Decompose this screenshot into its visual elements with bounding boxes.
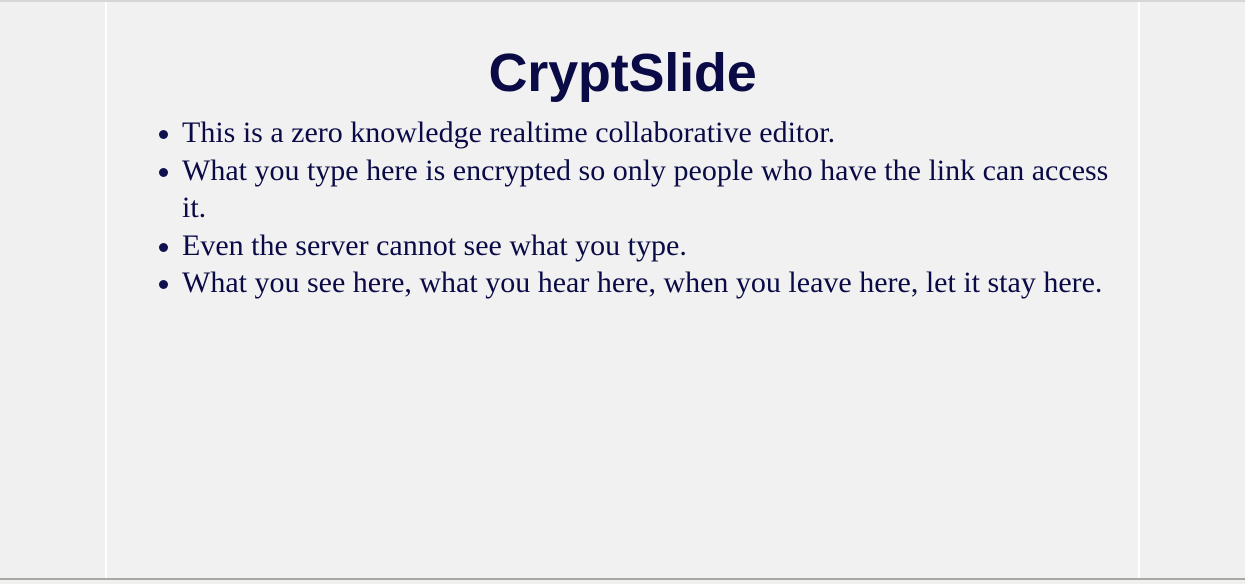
slide-bullet-text: What you see here, what you hear here, w… [182,266,1102,299]
page-bottom-rule [0,578,1245,580]
slide-bullet-text: Even the server cannot see what you type… [182,229,687,262]
slide-title[interactable]: CryptSlide [107,42,1138,104]
slide-canvas[interactable]: CryptSlide This is a zero knowledge real… [105,2,1140,578]
slide-bullet-item[interactable]: What you see here, what you hear here, w… [182,264,1132,302]
slide-bullet-text: This is a zero knowledge realtime collab… [182,116,835,149]
slide-bullet-item[interactable]: What you type here is encrypted so only … [182,152,1132,227]
slide-bullet-item[interactable]: This is a zero knowledge realtime collab… [182,114,1132,152]
slide-bullet-list[interactable]: This is a zero knowledge realtime collab… [150,114,1132,302]
slide-bullet-item[interactable]: Even the server cannot see what you type… [182,227,1132,265]
slide-bullet-text: What you type here is encrypted so only … [182,154,1108,225]
